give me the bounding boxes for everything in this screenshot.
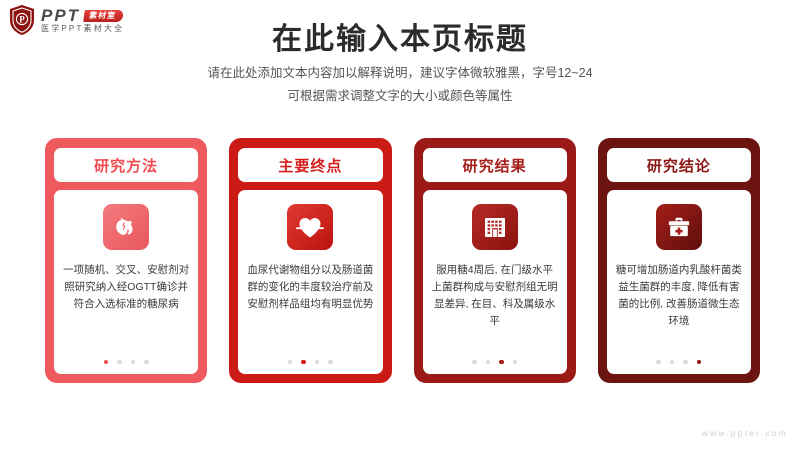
card-title: 研究结果	[463, 155, 527, 176]
step-dot-2[interactable]	[301, 360, 306, 365]
step-dot-2[interactable]	[117, 360, 122, 365]
card-body: 糖可增加肠道内乳酸杆菌类益生菌群的丰度, 降低有害菌的比例, 改善肠道微生态环境	[607, 190, 751, 374]
card-body: 血尿代谢物组分以及肠道菌群的变化的丰度较治疗前及安慰剂样品组均有明显优势	[238, 190, 382, 374]
step-dot-4[interactable]	[513, 360, 518, 365]
card-step-dots[interactable]	[472, 360, 517, 367]
step-dot-1[interactable]	[656, 360, 661, 365]
card-text: 血尿代谢物组分以及肠道菌群的变化的丰度较治疗前及安慰剂样品组均有明显优势	[247, 262, 373, 360]
card-header: 主要终点	[238, 148, 382, 182]
card-title: 研究方法	[94, 155, 158, 176]
card-row: 研究方法 一项随机、交叉、安慰剂对照研究纳入经OGTT确诊并符合入选标准的糖尿病	[45, 138, 760, 383]
step-dot-3[interactable]	[315, 360, 320, 365]
step-dot-2[interactable]	[670, 360, 675, 365]
step-dot-3[interactable]	[683, 360, 688, 365]
page-subtitle-line-1: 请在此处添加文本内容加以解释说明，建议字体微软雅黑，字号12~24	[0, 62, 800, 85]
step-dot-2[interactable]	[486, 360, 491, 365]
card-header: 研究方法	[54, 148, 198, 182]
step-dot-4[interactable]	[328, 360, 333, 365]
card-header: 研究结论	[607, 148, 751, 182]
step-dot-4[interactable]	[697, 360, 702, 365]
card-body: 服用糖4周后, 在门级水平上菌群构成与安慰剂组无明显差异, 在目、科及属级水平	[423, 190, 567, 374]
card-research-method[interactable]: 研究方法 一项随机、交叉、安慰剂对照研究纳入经OGTT确诊并符合入选标准的糖尿病	[45, 138, 207, 383]
anatomical-heart-icon	[113, 214, 139, 240]
card-body: 一项随机、交叉、安慰剂对照研究纳入经OGTT确诊并符合入选标准的糖尿病	[54, 190, 198, 374]
heartbeat-icon	[296, 214, 324, 240]
card-primary-endpoint[interactable]: 主要终点 血尿代谢物组分以及肠道菌群的变化的丰度较治疗前及安慰剂样品组均有明显优…	[229, 138, 391, 383]
card-research-results[interactable]: 研究结果	[414, 138, 576, 383]
card-research-conclusion[interactable]: 研究结论 糖可增加肠道内乳酸杆菌类益生菌群的丰度, 降低有害菌的比例,	[598, 138, 760, 383]
step-dot-3[interactable]	[131, 360, 136, 365]
icon-tile	[103, 204, 149, 250]
card-step-dots[interactable]	[288, 360, 333, 367]
card-step-dots[interactable]	[104, 360, 149, 367]
step-dot-1[interactable]	[288, 360, 293, 365]
icon-tile	[472, 204, 518, 250]
step-dot-1[interactable]	[472, 360, 477, 365]
medical-kit-icon	[666, 215, 692, 239]
card-text: 服用糖4周后, 在门级水平上菌群构成与安慰剂组无明显差异, 在目、科及属级水平	[432, 262, 558, 360]
card-text: 糖可增加肠道内乳酸杆菌类益生菌群的丰度, 降低有害菌的比例, 改善肠道微生态环境	[616, 262, 742, 360]
step-dot-4[interactable]	[144, 360, 149, 365]
site-watermark: www.ppter.com	[702, 428, 788, 438]
step-dot-1[interactable]	[104, 360, 109, 365]
icon-tile	[287, 204, 333, 250]
page-subtitle-line-2: 可根据需求调整文字的大小或颜色等属性	[0, 85, 800, 108]
card-title: 主要终点	[278, 155, 342, 176]
hospital-building-icon	[482, 215, 508, 239]
page-subtitle: 请在此处添加文本内容加以解释说明，建议字体微软雅黑，字号12~24 可根据需求调…	[0, 62, 800, 108]
card-text: 一项随机、交叉、安慰剂对照研究纳入经OGTT确诊并符合入选标准的糖尿病	[63, 262, 189, 360]
page-title: 在此输入本页标题	[0, 14, 800, 58]
icon-tile	[656, 204, 702, 250]
step-dot-3[interactable]	[499, 360, 504, 365]
card-step-dots[interactable]	[656, 360, 701, 367]
card-title: 研究结论	[647, 155, 711, 176]
card-header: 研究结果	[423, 148, 567, 182]
